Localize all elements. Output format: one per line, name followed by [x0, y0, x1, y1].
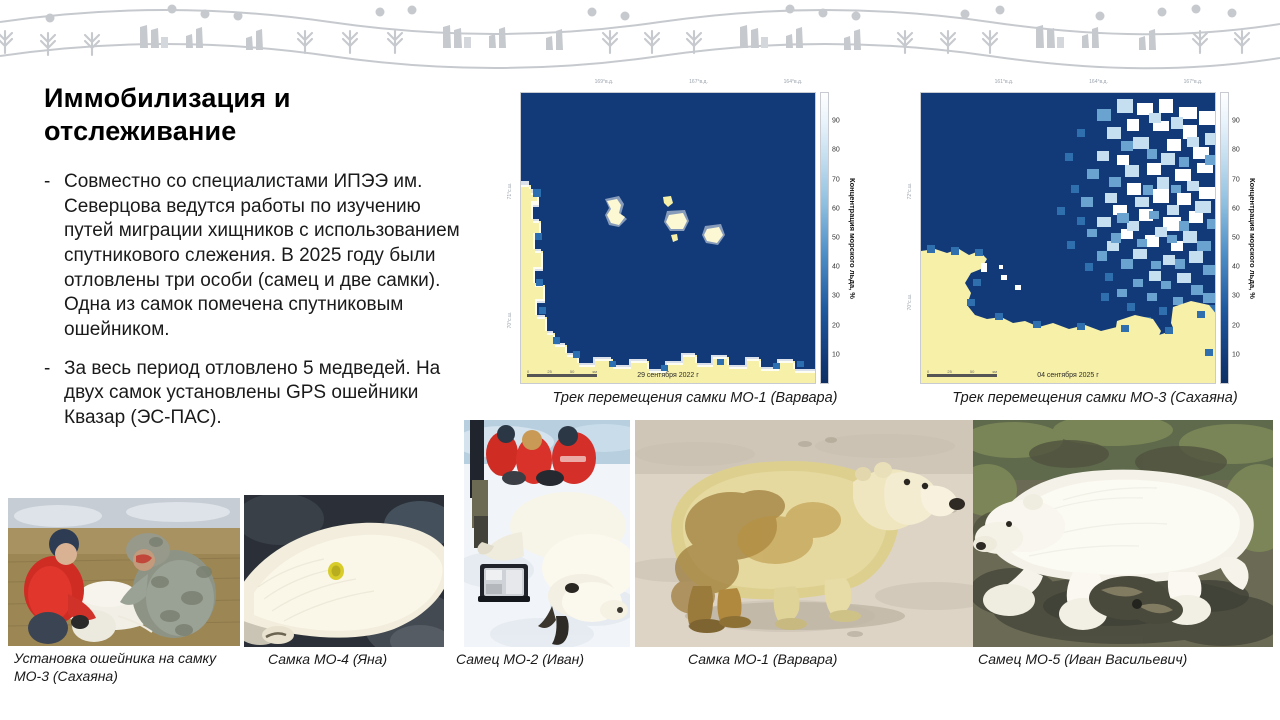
scale-tick: 50 [970, 369, 974, 374]
colorbar-tick: 10 [1232, 351, 1240, 358]
colorbar-tick: 30 [832, 293, 840, 300]
map2-caption: Трек перемещения самки МО-3 (Сахаяна) [920, 390, 1270, 406]
scale-tick: км [992, 369, 997, 374]
map2-lon-axis: 161°в.д. 164°в.д. 167°в.д. [920, 78, 1270, 92]
bullet-marker: - [44, 170, 64, 343]
colorbar-title: Концентрация морского льда, % [848, 92, 857, 384]
photo-caption-2: Самка МО-4 (Яна) [268, 651, 448, 669]
photo-female-mo4 [244, 495, 444, 647]
scale-tick: 25 [547, 369, 551, 374]
bullet-text-1: Совместно со специалистами ИПЭЭ им. Севе… [64, 170, 464, 343]
map-frame: 169°в.д. 167°в.д. 164°в.д. 71°с.ш. 70°с.… [520, 78, 870, 384]
photo-mo1-scene [635, 420, 973, 647]
map1-landmass [521, 93, 816, 384]
map2-body: 72°с.ш. 70°с.ш. [920, 92, 1270, 384]
text-column: Иммобилизация и отслеживание - Совместно… [44, 82, 464, 445]
photo-caption-1: Установка ошейника на самку МО-3 (Сахаян… [14, 650, 234, 685]
photo-mo4-scene [244, 495, 444, 647]
colorbar-tick: 80 [1232, 147, 1240, 154]
colorbar-ticks: 90 80 70 60 50 40 30 20 10 [1229, 92, 1249, 384]
colorbar-tick: 70 [832, 176, 840, 183]
lat-tick: 72°с.ш. [907, 183, 913, 200]
colorbar-tick: 90 [1232, 118, 1240, 125]
lat-tick: 71°с.ш. [507, 183, 513, 200]
lon-tick: 167°в.д. [689, 79, 708, 85]
colorbar-tick: 20 [1232, 322, 1240, 329]
map1-scalebar: 0 25 50 км [527, 369, 597, 377]
map2-ice-field [921, 93, 1216, 384]
colorbar-tick: 40 [832, 264, 840, 271]
bullet-text-2: За весь период отловлено 5 медведей. На … [64, 357, 464, 431]
photo-male-mo5 [973, 420, 1273, 647]
lon-tick: 161°в.д. [995, 79, 1014, 85]
colorbar-tick: 30 [1232, 293, 1240, 300]
colorbar-title: Концентрация морского льда, % [1248, 92, 1257, 384]
map2-scalebar: 0 25 50 км [927, 369, 997, 377]
scale-bar [527, 374, 597, 377]
photo-caption-3: Самец МО-2 (Иван) [456, 651, 636, 669]
map2-lat-axis: 72°с.ш. 70°с.ш. [907, 92, 919, 384]
photo-caption-5: Самец МО-5 (Иван Васильевич) [978, 651, 1238, 669]
map1-caption: Трек перемещения самки МО-1 (Варвара) [520, 390, 870, 406]
lon-tick: 164°в.д. [1089, 79, 1108, 85]
photo-collaring-scene [8, 498, 240, 646]
map2-plot-area: 0 25 50 км 04 сентября 2025 г [920, 92, 1216, 384]
scale-tick: 25 [947, 369, 951, 374]
colorbar-tick: 60 [832, 205, 840, 212]
photo-male-mo2 [464, 420, 630, 647]
scale-tick: 0 [927, 369, 929, 374]
colorbar-tick: 90 [832, 118, 840, 125]
bullet-item-2: - За весь период отловлено 5 медведей. Н… [44, 357, 464, 431]
colorbar-gradient [1220, 92, 1229, 384]
colorbar-tick: 40 [1232, 264, 1240, 271]
page-title: Иммобилизация и отслеживание [44, 82, 464, 148]
photo-collaring-mo3 [8, 498, 240, 646]
scale-tick: км [592, 369, 597, 374]
scale-bar [927, 374, 997, 377]
colorbar-tick: 70 [1232, 176, 1240, 183]
map-frame: 161°в.д. 164°в.д. 167°в.д. 72°с.ш. 70°с.… [920, 78, 1270, 384]
map1-body: 71°с.ш. 70°с.ш. [520, 92, 870, 384]
map1-lat-axis: 71°с.ш. 70°с.ш. [507, 92, 519, 384]
colorbar-tick: 50 [832, 235, 840, 242]
lat-tick: 70°с.ш. [907, 294, 913, 311]
map-figure-mo1: 169°в.д. 167°в.д. 164°в.д. 71°с.ш. 70°с.… [520, 78, 870, 406]
decorative-header-band [0, 0, 1280, 70]
photo-mo2-scene [464, 420, 630, 647]
bullet-item-1: - Совместно со специалистами ИПЭЭ им. Се… [44, 170, 464, 343]
lon-tick: 167°в.д. [1184, 79, 1203, 85]
lon-tick: 169°в.д. [595, 79, 614, 85]
scale-tick: 0 [527, 369, 529, 374]
map2-date-label: 04 сентября 2025 г [1037, 372, 1099, 379]
photo-mo5-scene [973, 420, 1273, 647]
map1-plot-area: 0 25 50 км 29 сентября 2022 г [520, 92, 816, 384]
photo-female-mo1 [635, 420, 973, 647]
lon-tick: 164°в.д. [784, 79, 803, 85]
map-figure-mo3: 161°в.д. 164°в.д. 167°в.д. 72°с.ш. 70°с.… [920, 78, 1270, 406]
colorbar-tick: 10 [832, 351, 840, 358]
photo-caption-4: Самка МО-1 (Варвара) [688, 651, 908, 669]
map2-colorbar: 90 80 70 60 50 40 30 20 10 Концентрация … [1220, 92, 1257, 384]
colorbar-tick: 50 [1232, 235, 1240, 242]
lat-tick: 70°с.ш. [507, 311, 513, 328]
colorbar-tick: 60 [1232, 205, 1240, 212]
colorbar-tick: 80 [832, 147, 840, 154]
map1-date-label: 29 сентября 2022 г [637, 372, 699, 379]
colorbar-tick: 20 [832, 322, 840, 329]
scale-tick: 50 [570, 369, 574, 374]
map1-colorbar: 90 80 70 60 50 40 30 20 10 Концентрация … [820, 92, 857, 384]
map1-lon-axis: 169°в.д. 167°в.д. 164°в.д. [520, 78, 870, 92]
colorbar-gradient [820, 92, 829, 384]
colorbar-ticks: 90 80 70 60 50 40 30 20 10 [829, 92, 849, 384]
bullet-marker: - [44, 357, 64, 431]
